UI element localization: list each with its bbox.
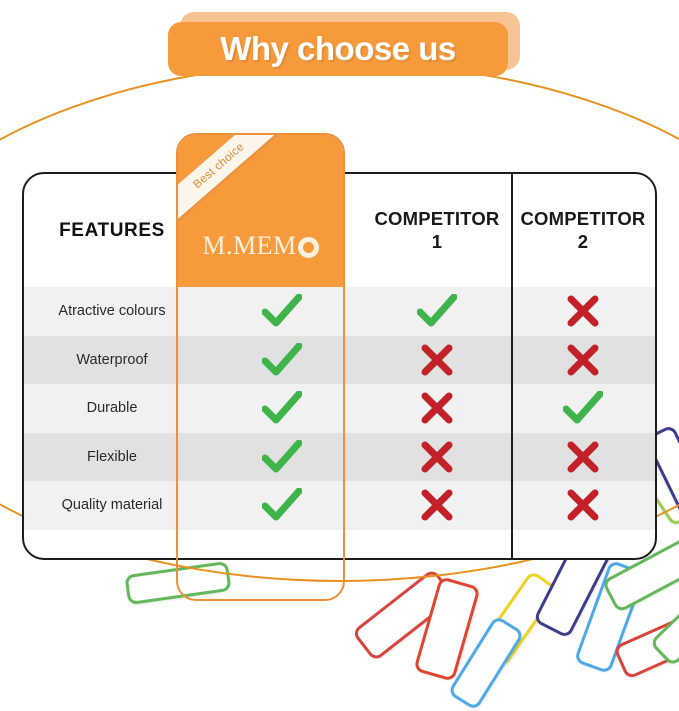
label-sticker (477, 570, 560, 668)
check-icon (417, 294, 457, 328)
feature-label: Flexible (87, 449, 137, 465)
features-header-label: FEATURES (59, 220, 165, 242)
cross-icon (420, 440, 454, 474)
memo-brand-text: M.MEM (202, 231, 296, 261)
feature-name-cell: Atractive colours (24, 287, 200, 336)
label-sticker (574, 560, 647, 674)
competitor-1-mark-cell (363, 433, 511, 482)
title-banner-pill: Why choose us (168, 22, 508, 76)
feature-name-cell: Quality material (24, 481, 200, 530)
feature-name-cell: Flexible (24, 433, 200, 482)
label-sticker (351, 568, 456, 662)
competitor-1-mark-cell (363, 481, 511, 530)
feature-name-cell: Waterproof (24, 336, 200, 385)
competitor-1-name: COMPETITOR (375, 208, 500, 229)
competitor-2-mark-cell (511, 481, 655, 530)
page-title: Why choose us (220, 30, 456, 68)
competitor-column-divider (511, 174, 513, 558)
competitor-1-label: COMPETITOR 1 (375, 208, 500, 253)
features-header-cell: FEATURES (24, 174, 200, 287)
competitor-2-mark-cell (511, 287, 655, 336)
label-sticker (447, 615, 525, 711)
competitor-2-name: COMPETITOR (521, 208, 646, 229)
cross-icon (566, 488, 600, 522)
cross-icon (420, 488, 454, 522)
competitor-2-mark-cell (511, 433, 655, 482)
page-title-banner: Why choose us (168, 18, 520, 76)
feature-name-cell: Durable (24, 384, 200, 433)
memo-logo-o-circle (298, 237, 319, 258)
cross-icon (566, 294, 600, 328)
cross-icon (566, 440, 600, 474)
cross-icon (420, 343, 454, 377)
competitor-2-number: 2 (521, 231, 646, 254)
competitor-2-mark-cell (511, 336, 655, 385)
competitor-1-mark-cell (363, 384, 511, 433)
cross-icon (420, 391, 454, 425)
memo-column-header: M.MEM (178, 135, 343, 287)
memo-brand-logo: M.MEM (202, 231, 318, 261)
competitor-2-mark-cell (511, 384, 655, 433)
tail-cell-feature (24, 530, 200, 561)
feature-label: Durable (87, 400, 138, 416)
highlighted-memo-column[interactable]: M.MEM Best choice (176, 133, 345, 601)
label-sticker (649, 579, 679, 667)
label-sticker (613, 608, 679, 680)
tail-cell-comp1 (363, 530, 511, 561)
feature-label: Waterproof (76, 352, 147, 368)
competitor-1-header-cell: COMPETITOR 1 (363, 174, 511, 287)
feature-label: Quality material (62, 497, 163, 513)
competitor-1-mark-cell (363, 336, 511, 385)
competitor-2-label: COMPETITOR 2 (521, 208, 646, 253)
label-sticker (413, 576, 480, 682)
competitor-2-header-cell: COMPETITOR 2 (511, 174, 655, 287)
tail-cell-comp2 (511, 530, 655, 561)
competitor-1-number: 1 (375, 231, 500, 254)
check-icon (563, 391, 603, 425)
competitor-1-mark-cell (363, 287, 511, 336)
feature-label: Atractive colours (58, 303, 165, 319)
cross-icon (566, 343, 600, 377)
